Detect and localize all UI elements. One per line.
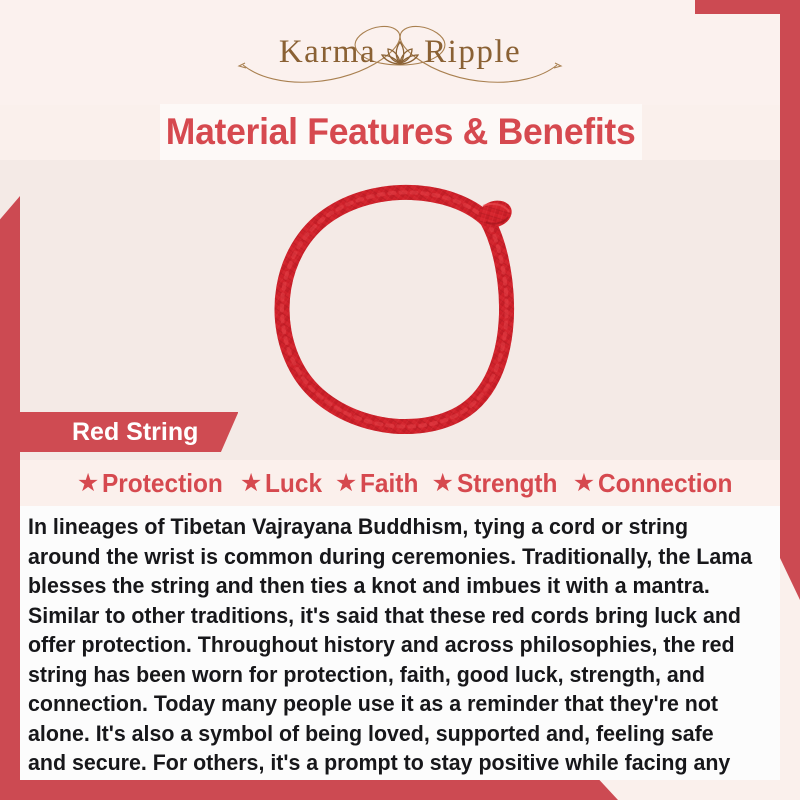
page-title: Material Features & Benefits [166,111,636,153]
brand-logo: Karma Ripple [235,21,565,85]
frame-accent-left [0,196,20,780]
bracelet-knot [475,196,515,231]
frame-accent-right [780,0,800,600]
star-icon: ★ [240,471,262,496]
bracelet-image [255,172,545,450]
features-strip: ★ Protection ★ Luck ★ Faith ★ Strength ★… [0,460,800,506]
feature-item: ★ Faith [335,468,423,499]
star-icon: ★ [77,471,99,496]
description-text: In lineages of Tibetan Vajrayana Buddhis… [28,512,752,800]
star-icon: ★ [335,471,357,496]
material-label: Red String [72,418,198,447]
frame-accent-bottom [0,780,618,800]
feature-item: ★ Protection [77,468,231,499]
poster-canvas: Karma Ripple Material Features & Benefit… [0,0,800,800]
feature-label: Connection [598,468,732,499]
feature-label: Luck [265,468,322,499]
material-label-banner: Red String [20,412,238,452]
description-panel: In lineages of Tibetan Vajrayana Buddhis… [20,506,780,780]
star-icon: ★ [573,471,595,496]
feature-label: Faith [360,468,418,499]
page-title-band: Material Features & Benefits [160,104,642,160]
feature-item: ★ Connection [573,468,741,499]
brand-header: Karma Ripple [0,0,800,105]
brand-name-right: Ripple [424,36,521,69]
features-row: ★ Protection ★ Luck ★ Faith ★ Strength ★… [59,468,741,499]
feature-item: ★ Strength [431,468,563,499]
lotus-icon [380,36,420,70]
feature-label: Strength [457,468,557,499]
star-icon: ★ [431,471,453,496]
feature-item: ★ Luck [240,468,326,499]
feature-label: Protection [102,468,223,499]
brand-name-left: Karma [279,36,376,69]
